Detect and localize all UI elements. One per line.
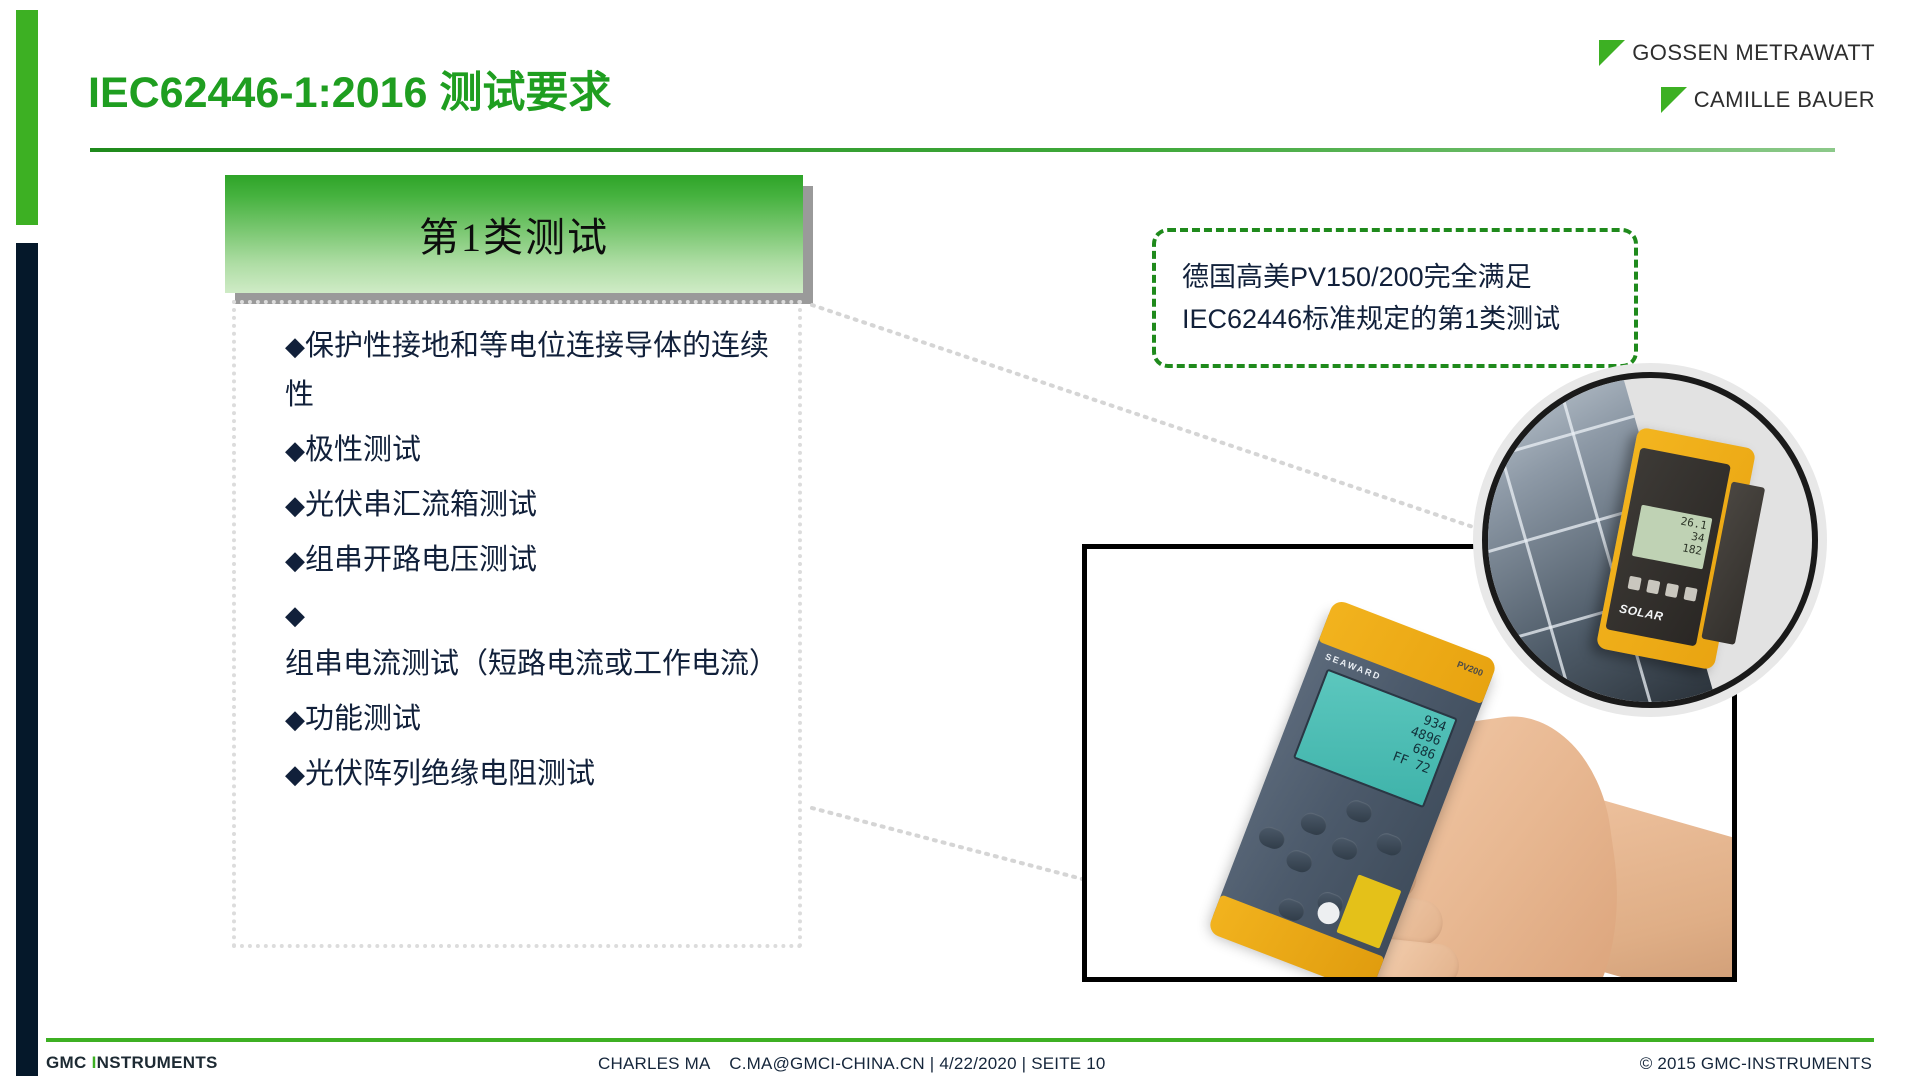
diamond-bullet-icon: ◆ [285, 759, 305, 789]
list-item-label: 光伏串汇流箱测试 [305, 489, 537, 521]
device-key [1374, 830, 1405, 858]
meter-lcd-screen: 26.1 34 182 [1632, 505, 1713, 570]
meter-button [1646, 579, 1660, 594]
list-item: ◆功能测试 [285, 695, 785, 744]
logo-camille-bauer-label: CAMILLE BAUER [1694, 87, 1875, 113]
footer-logo-rest: NSTRUMENTS [97, 1053, 218, 1072]
device-key [1343, 797, 1374, 825]
footer-divider [46, 1038, 1874, 1042]
list-item-label: 组串电流测试（短路电流或工作电流） [285, 648, 778, 680]
triangle-icon [1599, 40, 1625, 66]
diamond-bullet-icon: ◆ [285, 600, 305, 630]
diamond-bullet-icon: ◆ [285, 545, 305, 575]
logo-camille-bauer: CAMILLE BAUER [1661, 87, 1875, 113]
list-item-label: 功能测试 [305, 703, 421, 735]
diamond-bullet-icon: ◆ [285, 704, 305, 734]
device-key [1284, 847, 1315, 875]
device-key [1329, 835, 1360, 863]
category-header-label: 第1类测试 [419, 205, 609, 263]
list-item-label: 组串开路电压测试 [305, 544, 537, 576]
list-item: ◆保护性接地和等电位连接导体的连续性 [285, 322, 785, 420]
logo-gossen-metrawatt: GOSSEN METRAWATT [1599, 40, 1875, 66]
list-item-label: 保护性接地和等电位连接导体的连续性 [285, 330, 769, 411]
device-key [1298, 810, 1329, 838]
meter-button [1683, 587, 1697, 602]
footer-copyright: © 2015 GMC-INSTRUMENTS [1640, 1054, 1872, 1074]
list-item: ◆光伏串汇流箱测试 [285, 481, 785, 530]
diamond-bullet-icon: ◆ [285, 435, 305, 465]
meter-brand-label: SOLAR [1618, 601, 1664, 623]
list-item: ◆组串开路电压测试 [285, 536, 785, 585]
left-edge-dark-bar [16, 243, 38, 1076]
triangle-icon [1661, 87, 1687, 113]
footer-logo-gmc: GMC [46, 1053, 87, 1072]
list-item: ◆光伏阵列绝缘电阻测试 [285, 750, 785, 799]
footer-metadata: CHARLES MA C.MA@GMCI-CHINA.CN | 4/22/202… [598, 1054, 1106, 1074]
meter-button [1665, 583, 1679, 598]
list-item: ◆组串电流测试（短路电流或工作电流） [285, 591, 785, 689]
page-title: IEC62446-1:2016 测试要求 [88, 58, 611, 120]
meter-button [1627, 576, 1641, 591]
device-key [1256, 824, 1287, 852]
left-edge-green-bar [16, 10, 38, 225]
callout-line-2: IEC62446标准规定的第1类测试 [1182, 298, 1634, 340]
solar-meter-photo: 26.1 34 182 SOLAR [1482, 372, 1818, 708]
list-item: ◆极性测试 [285, 426, 785, 475]
callout-line-1: 德国高美PV150/200完全满足 [1182, 256, 1634, 298]
list-item-label: 极性测试 [305, 434, 421, 466]
logo-gossen-metrawatt-label: GOSSEN METRAWATT [1632, 40, 1875, 66]
finger-shape [1378, 981, 1472, 982]
bullets-list: ◆保护性接地和等电位连接导体的连续性 ◆极性测试 ◆光伏串汇流箱测试 ◆组串开路… [285, 322, 785, 805]
callout-box: 德国高美PV150/200完全满足 IEC62446标准规定的第1类测试 [1152, 228, 1638, 368]
category-header-box: 第1类测试 [225, 175, 803, 293]
list-item-label: 光伏阵列绝缘电阻测试 [305, 758, 595, 790]
meter-buttons [1627, 576, 1697, 602]
diamond-bullet-icon: ◆ [285, 331, 305, 361]
diamond-bullet-icon: ◆ [285, 490, 305, 520]
device-key [1276, 896, 1307, 924]
footer-logo: GMC INSTRUMENTS [46, 1053, 218, 1073]
title-divider [90, 148, 1835, 152]
